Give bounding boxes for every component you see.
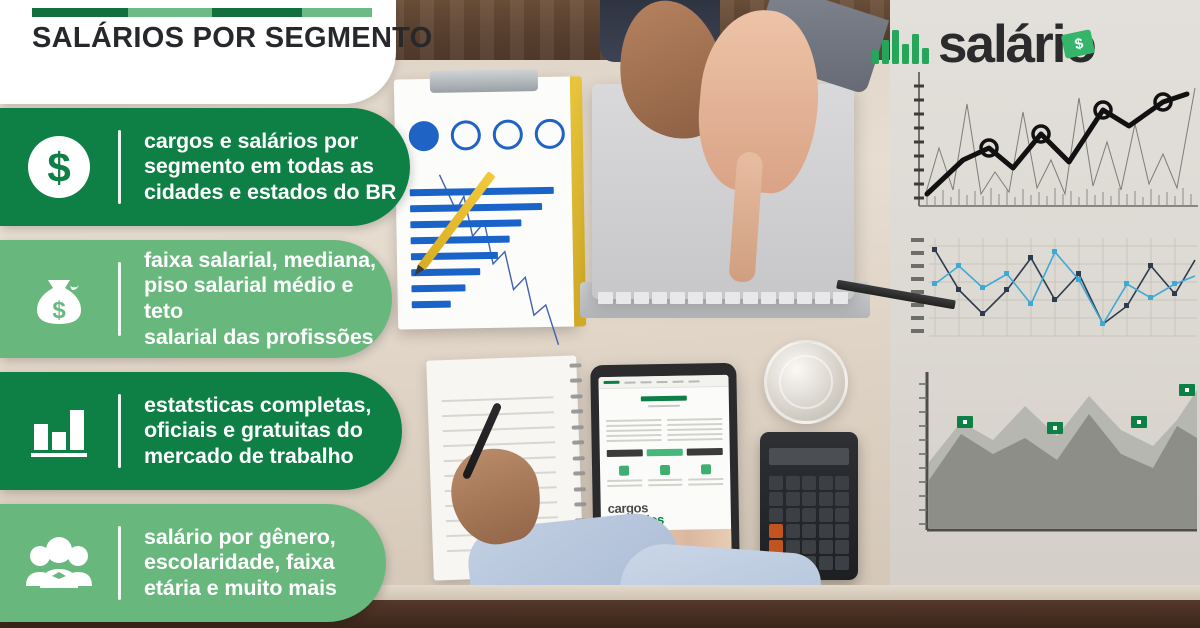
row-divider	[118, 130, 121, 204]
stacked-area-chart	[905, 368, 1200, 558]
dual-series-grid-chart	[905, 232, 1200, 350]
svg-text:$: $	[52, 297, 66, 324]
laptop-front-keys	[598, 292, 848, 304]
title-accent-bars	[32, 8, 372, 17]
tablet-buttons	[600, 443, 730, 457]
title-accent-bar	[302, 8, 372, 17]
row-divider	[118, 526, 121, 600]
clipboard-clip	[430, 69, 538, 93]
dollar-circle-icon: $	[0, 134, 118, 200]
money-bag-icon: $	[0, 266, 118, 332]
svg-text:$: $	[47, 144, 70, 191]
feature-row-3[interactable]: estatsticas completas, oficiais e gratui…	[0, 372, 402, 490]
feature-row-2[interactable]: $ faixa salarial, mediana, piso salarial…	[0, 240, 392, 358]
feature-row-1[interactable]: $ cargos e salários por segmento em toda…	[0, 108, 410, 226]
tablet-feature-icons	[600, 455, 731, 499]
feature-text-3: estatsticas completas, oficiais e gratui…	[121, 393, 371, 470]
logo-bar	[882, 40, 889, 64]
tablet-columns	[599, 418, 729, 445]
logo-bar	[902, 44, 909, 64]
water-glass	[764, 340, 848, 424]
logo-bar	[922, 48, 929, 64]
title-card: SALÁRIOS POR SEGMENTO	[0, 0, 396, 104]
feature-text-1: cargos e salários por segmento em todas …	[121, 129, 396, 206]
logo-bar	[872, 50, 879, 64]
logo-bar	[892, 30, 899, 64]
row-divider	[118, 262, 121, 336]
title-accent-bar	[32, 8, 128, 17]
poster: cargos e salários	[0, 0, 1200, 628]
people-group-icon	[0, 530, 118, 596]
row-divider	[118, 394, 121, 468]
feature-text-4: salário por gênero, escolaridade, faixa …	[121, 525, 337, 602]
feature-row-4[interactable]: salário por gênero, escolaridade, faixa …	[0, 504, 386, 622]
logo-bar-chart-icon	[872, 26, 929, 64]
trend-line-chart	[905, 68, 1200, 220]
page-title: SALÁRIOS POR SEGMENTO	[32, 22, 433, 55]
clipboard-with-report	[394, 76, 578, 329]
logo-wordmark: salário $	[938, 18, 1095, 71]
logo-bar	[912, 34, 919, 64]
report-circle-icons	[409, 119, 565, 152]
title-accent-bar	[212, 8, 302, 17]
bar-chart-icon	[0, 398, 118, 464]
calculator-display	[769, 448, 849, 465]
salario-logo[interactable]: salário $	[872, 18, 1095, 71]
tablet-hero	[599, 387, 730, 420]
title-accent-bar	[128, 8, 212, 17]
feature-text-2: faixa salarial, mediana, piso salarial m…	[121, 248, 392, 350]
